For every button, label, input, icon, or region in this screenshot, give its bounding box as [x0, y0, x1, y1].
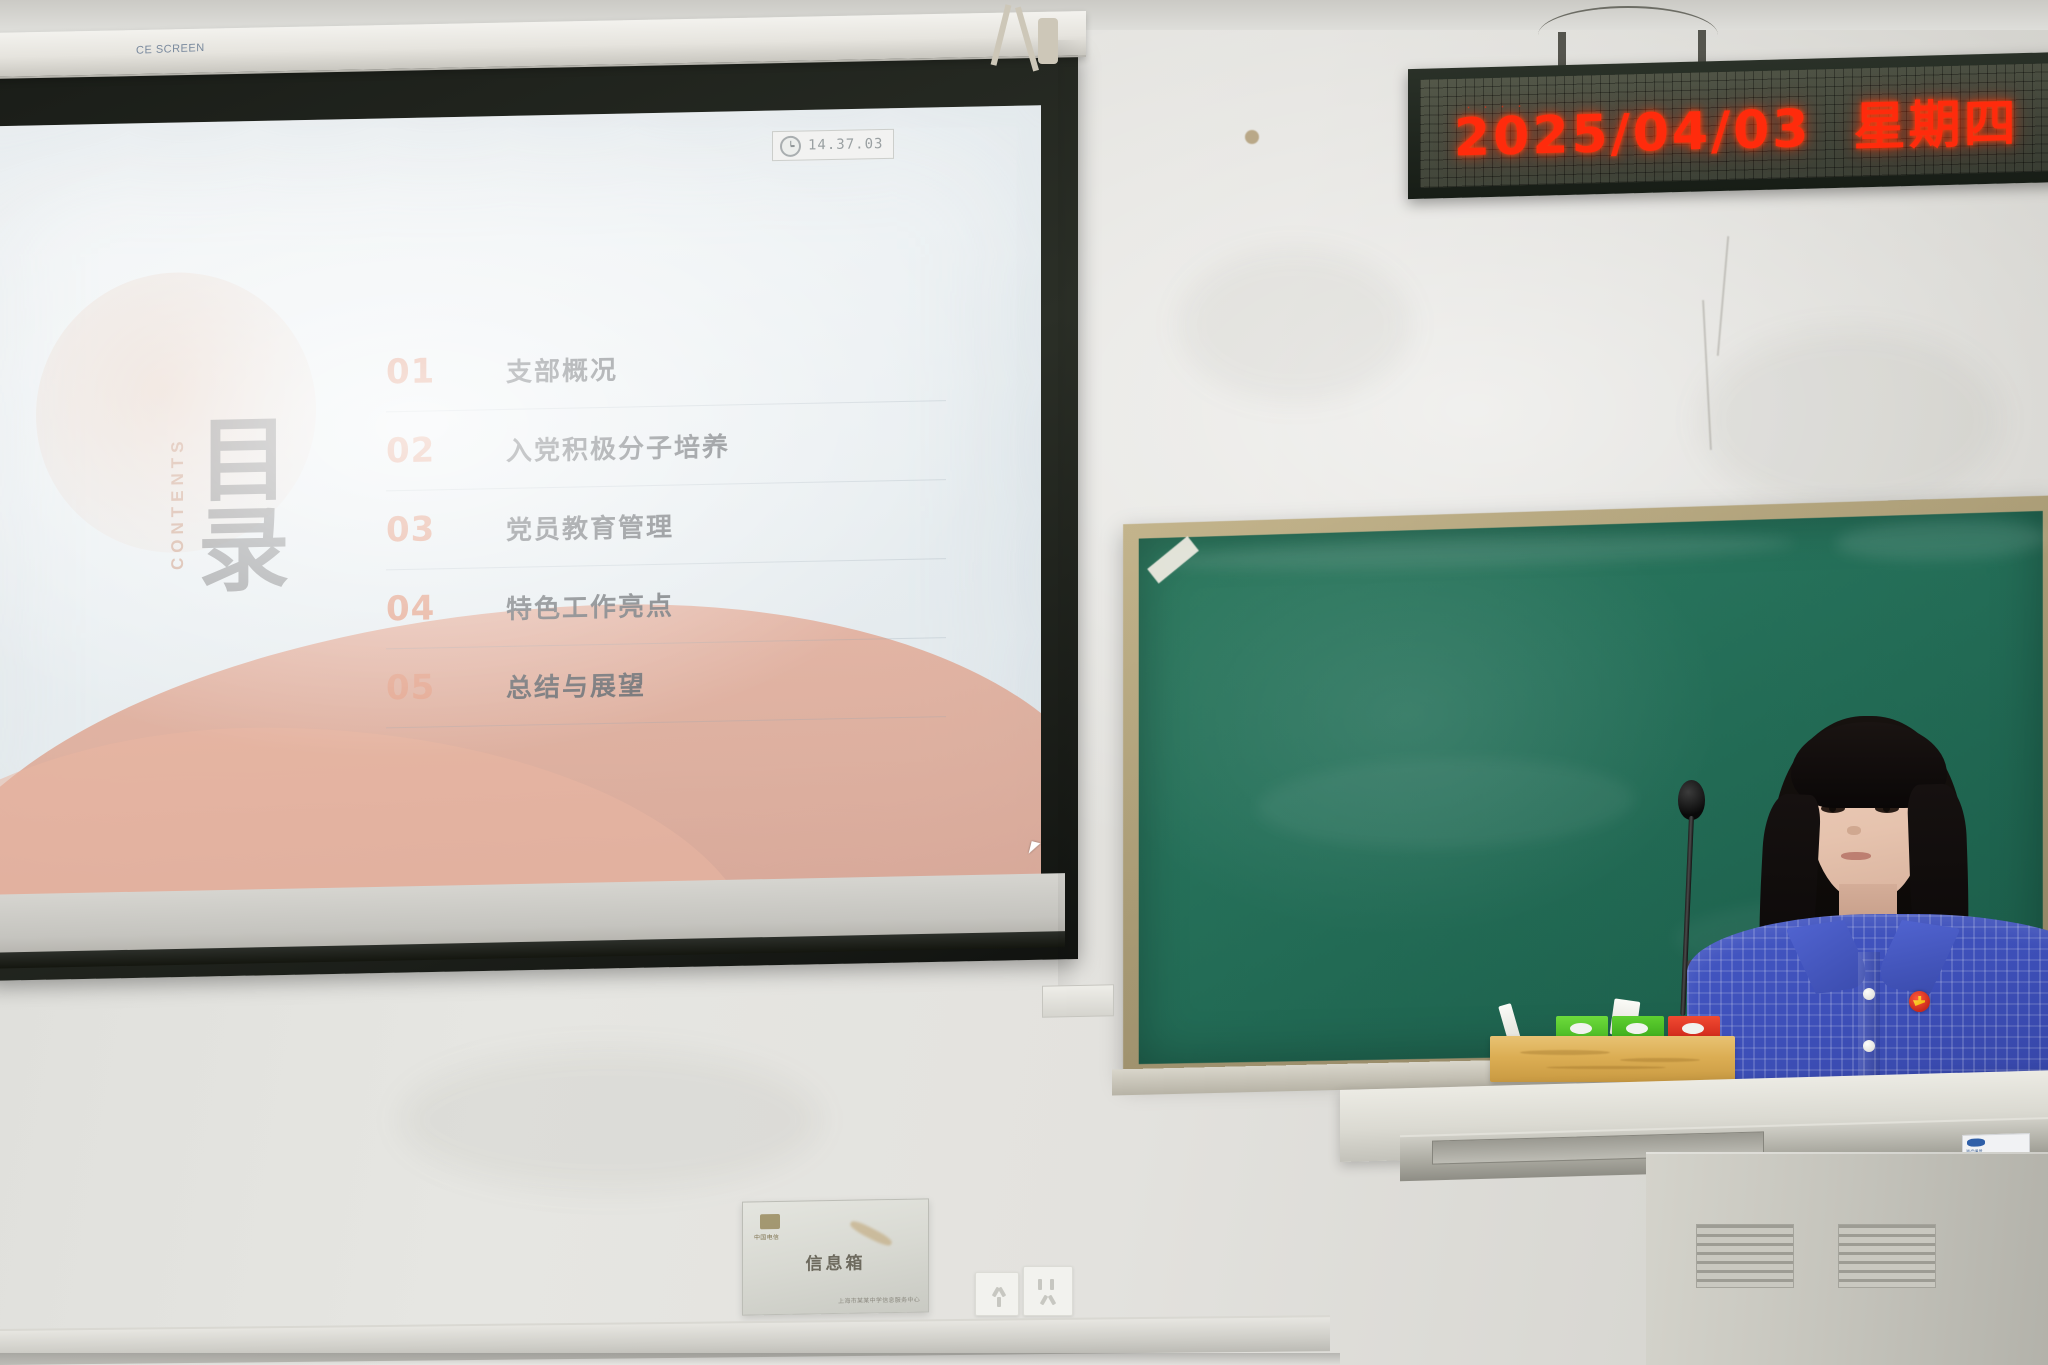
shirt-button — [1863, 988, 1875, 1000]
infobox-title: 信息箱 — [743, 1247, 928, 1275]
chalk-tray — [1490, 1010, 1735, 1082]
slide-heading-en: CONTENTS — [168, 436, 188, 570]
infobox-logo-icon — [760, 1214, 780, 1229]
led-banner-assembly: ···· 2025/04/03 星期四 14:3 — [1408, 26, 2048, 196]
chalk-box-lid — [1570, 1023, 1592, 1034]
toc-item-label: 特色工作亮点 — [506, 585, 674, 625]
toc-item: 03 党员教育管理 — [386, 480, 946, 570]
mouth — [1841, 852, 1871, 860]
screen-mount-plate — [1038, 18, 1058, 64]
toc-item-number: 01 — [386, 350, 506, 392]
toc-item: 05 总结与展望 — [386, 638, 946, 728]
outlet-slot — [1050, 1279, 1054, 1290]
wall-stain — [1700, 330, 2000, 510]
toc-item-label: 支部概况 — [506, 349, 618, 388]
screen-side-shadow — [1058, 40, 1082, 1000]
projection-surface: ⹽ ⹽ ⹽ ⹽ ⹽ 目录 CONTENTS 01 支部概况 02 — [0, 105, 1041, 897]
lectern-body — [1646, 1152, 2048, 1365]
wall-stain — [400, 1050, 820, 1190]
toc-item: 04 特色工作亮点 — [386, 559, 946, 649]
outlet-slot — [1048, 1295, 1056, 1306]
chalk-box-lid — [1682, 1023, 1704, 1034]
outlet-slot — [997, 1297, 1001, 1307]
shirt-button — [1863, 1040, 1875, 1052]
outlet-slot — [998, 1287, 1006, 1298]
wall-screw — [1245, 130, 1259, 144]
led-display-panel: ···· 2025/04/03 星期四 14:3 — [1420, 62, 2048, 188]
osd-clock-time: 14.37.03 — [808, 136, 883, 153]
slide-toc-list: 01 支部概况 02 入党积极分子培养 03 党员教育管理 04 特色工作亮点 — [386, 322, 946, 728]
chalk-tray-wood — [1490, 1036, 1735, 1082]
chalk-smudge — [1257, 754, 1634, 853]
led-mount-bracket — [1558, 32, 1566, 66]
infobox-scuff — [848, 1218, 893, 1248]
sticker-logo-icon — [1967, 1138, 1985, 1147]
lectern-vent — [1696, 1224, 1794, 1288]
slide-birds-decor: ⹽ ⹽ ⹽ ⹽ ⹽ — [66, 233, 256, 307]
toc-item-number: 05 — [386, 666, 506, 708]
toc-item-label: 总结与展望 — [506, 665, 646, 705]
led-weekday: 星期四 — [1854, 94, 2019, 158]
projector-osd-clock: 14.37.03 — [772, 129, 894, 161]
slide-heading-block: 目录 CONTENTS — [76, 410, 306, 665]
information-box[interactable]: 中国电信 信息箱 上海市某某中学信息服务中心 — [742, 1198, 929, 1315]
led-spacer-2 — [2019, 93, 2048, 154]
slide-heading-cn: 目录 — [191, 411, 278, 593]
toc-item-number: 04 — [386, 587, 506, 629]
led-banner-text: 2025/04/03 星期四 14:3 — [1454, 76, 2048, 171]
led-spacer — [1811, 98, 1853, 159]
toc-item-number: 02 — [386, 429, 506, 471]
power-outlet-left[interactable] — [975, 1272, 1019, 1316]
floor-shadow — [0, 1353, 1340, 1365]
toc-item: 02 入党积极分子培养 — [386, 401, 946, 491]
wood-grain — [1546, 1066, 1666, 1069]
wall-stain — [1180, 250, 1410, 400]
led-mount-bracket — [1698, 30, 1706, 64]
toc-item-number: 03 — [386, 508, 506, 550]
infobox-footer-text: 上海市某某中学信息服务中心 — [743, 1295, 920, 1307]
toc-item: 01 支部概况 — [386, 322, 946, 412]
led-banner-frame: ···· 2025/04/03 星期四 14:3 — [1408, 51, 2048, 199]
nose — [1847, 826, 1861, 835]
classroom-scene: ⹽ ⹽ ⹽ ⹽ ⹽ 目录 CONTENTS 01 支部概况 02 — [0, 0, 2048, 1365]
clock-icon — [780, 135, 801, 156]
toc-item-label: 入党积极分子培养 — [506, 426, 730, 467]
chalk-smudge — [1835, 517, 2048, 564]
wood-grain — [1520, 1050, 1610, 1055]
screen-roller-label: CE SCREEN — [136, 42, 205, 57]
led-date: 2025/04/03 — [1454, 99, 1811, 168]
wall-conduit-box — [1042, 984, 1114, 1018]
party-emblem-badge — [1909, 991, 1930, 1012]
lectern-vent — [1838, 1224, 1936, 1288]
outlet-slot — [1038, 1279, 1042, 1290]
infobox-logo-text: 中国电信 — [754, 1232, 779, 1241]
wood-grain — [1620, 1058, 1700, 1062]
presentation-slide: ⹽ ⹽ ⹽ ⹽ ⹽ 目录 CONTENTS 01 支部概况 02 — [0, 105, 1041, 897]
projector-screen-assembly: ⹽ ⹽ ⹽ ⹽ ⹽ 目录 CONTENTS 01 支部概况 02 — [0, 22, 1096, 982]
microphone-head — [1678, 780, 1705, 820]
toc-item-label: 党员教育管理 — [506, 506, 674, 546]
power-outlet-right[interactable] — [1023, 1266, 1073, 1316]
chalk-smudge — [1158, 529, 1795, 576]
chalk-box-lid — [1626, 1023, 1648, 1034]
